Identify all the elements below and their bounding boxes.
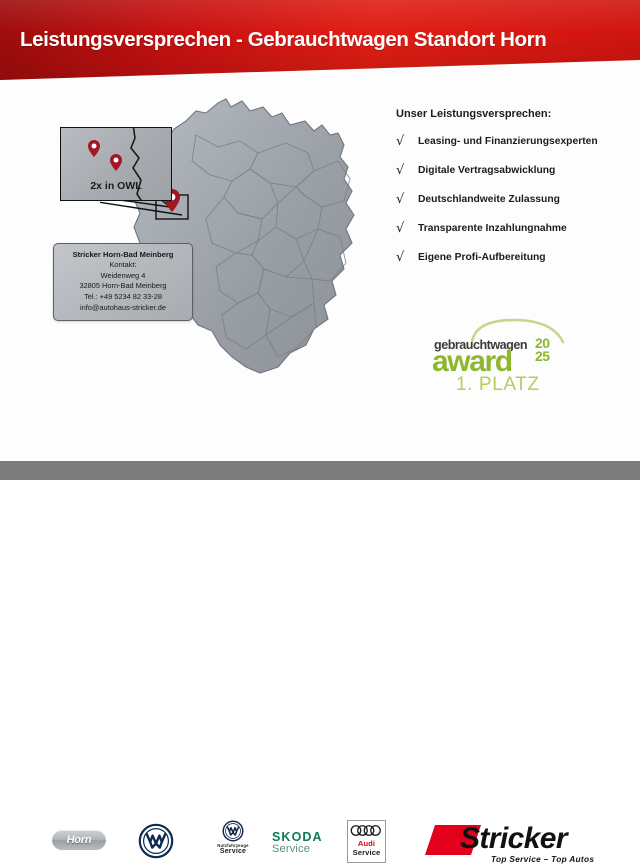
award-badge: gebrauchtwagen award 20 25 1. PLATZ <box>430 318 570 394</box>
owl-callout-box: 2x in OWL <box>60 127 172 201</box>
audi-wordmark: Audi <box>348 839 385 848</box>
award-year-bottom: 25 <box>535 350 550 363</box>
stricker-wordmark: Stricker <box>460 822 567 856</box>
list-item-label: Deutschlandweite Zulassung <box>418 193 560 208</box>
audi-service-label: Service <box>348 848 385 857</box>
audi-service-logo: Audi Service <box>347 820 386 863</box>
list-item: √ Deutschlandweite Zulassung <box>396 193 632 208</box>
stricker-tagline: Top Service – Top Autos <box>491 854 594 864</box>
contact-box: Stricker Horn-Bad Meinberg Kontakt: Weid… <box>53 243 193 321</box>
stricker-logo: Stricker Top Service – Top Autos <box>425 817 600 865</box>
contact-kontakt-label: Kontakt: <box>58 260 188 271</box>
list-item: √ Leasing- und Finanzierungsexperten <box>396 135 632 150</box>
contact-name: Stricker Horn-Bad Meinberg <box>58 249 188 260</box>
list-item: √ Digitale Vertragsabwicklung <box>396 164 632 179</box>
header-banner: Leistungsversprechen - Gebrauchtwagen St… <box>0 0 640 82</box>
skoda-service-label: Service <box>272 843 323 855</box>
check-icon: √ <box>396 251 418 266</box>
check-icon: √ <box>396 222 418 237</box>
list-item: √ Transparente Inzahlungnahme <box>396 222 632 237</box>
list-item-label: Digitale Vertragsabwicklung <box>418 164 555 179</box>
contact-email: info@autohaus-stricker.de <box>58 303 188 314</box>
award-year: 20 25 <box>535 337 550 363</box>
brand-logo-row: Horn Nutzfahrzeuge Service SKODA Service <box>0 405 640 461</box>
skoda-service-logo: SKODA Service <box>272 830 323 855</box>
list-item-label: Leasing- und Finanzierungsexperten <box>418 135 598 150</box>
horn-logo: Horn <box>52 830 106 850</box>
audi-rings-icon <box>350 824 383 837</box>
vw-nutzfahrzeuge-logo: Nutzfahrzeuge Service <box>208 820 258 855</box>
check-icon: √ <box>396 135 418 150</box>
promise-heading: Unser Leistungsversprechen: <box>396 108 632 120</box>
award-rank: 1. PLATZ <box>456 374 540 396</box>
horn-logo-label: Horn <box>52 830 106 850</box>
map-pin-icon <box>110 154 122 171</box>
list-item-label: Transparente Inzahlungnahme <box>418 222 567 237</box>
callout-label: 2x in OWL <box>61 180 171 192</box>
check-icon: √ <box>396 164 418 179</box>
skoda-wordmark: SKODA <box>272 830 323 844</box>
vw-logo-icon <box>138 823 174 859</box>
page-title: Leistungsversprechen - Gebrauchtwagen St… <box>20 28 546 52</box>
vw-nfz-line2: Service <box>208 848 258 855</box>
map-pin-icon <box>88 140 100 157</box>
list-item: √ Eigene Profi-Aufbereitung <box>396 251 632 266</box>
list-item-label: Eigene Profi-Aufbereitung <box>418 251 546 266</box>
check-icon: √ <box>396 193 418 208</box>
slide-canvas: Leistungsversprechen - Gebrauchtwagen St… <box>0 0 640 480</box>
contact-city: 32805 Horn-Bad Meinberg <box>58 281 188 292</box>
award-main-word: award <box>432 347 512 377</box>
contact-street: Weidenweg 4 <box>58 271 188 282</box>
contact-phone: Tel.: +49 5234 82 33-28 <box>58 292 188 303</box>
promise-list: Unser Leistungsversprechen: √ Leasing- u… <box>396 108 632 280</box>
vw-logo-icon <box>222 820 244 842</box>
footer-bar <box>0 461 640 480</box>
